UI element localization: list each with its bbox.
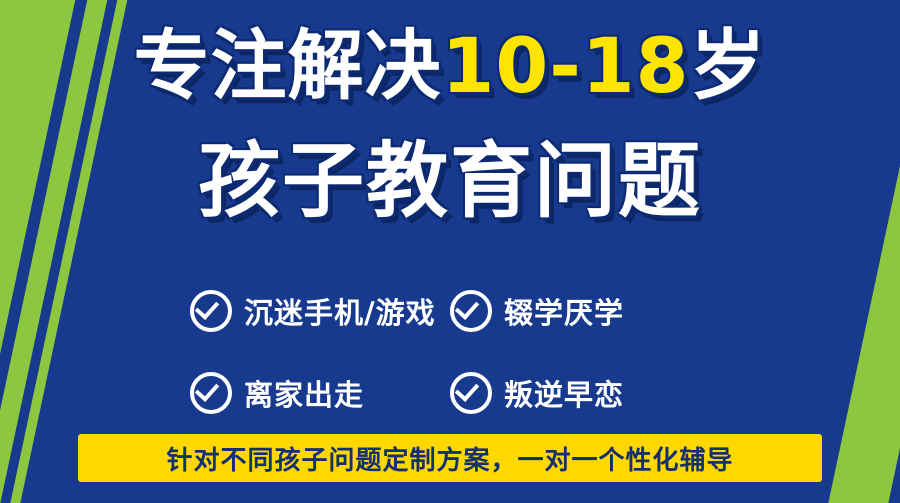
check-circle-icon — [450, 290, 492, 332]
feature-label: 沉迷手机/游戏 — [244, 290, 436, 332]
feature-item-1: 辍学厌学 — [450, 290, 690, 332]
headline-prefix: 专注解决 — [133, 21, 441, 110]
feature-item-0: 沉迷手机/游戏 — [190, 290, 450, 332]
feature-list: 沉迷手机/游戏 辍学厌学 离家出走 叛逆早恋 — [190, 270, 710, 434]
headline-line-1: 专注解决10-18岁 — [0, 22, 900, 110]
feature-row: 离家出走 叛逆早恋 — [190, 352, 710, 434]
headline-line-2: 孩子教育问题 — [0, 134, 900, 230]
promo-banner: 专注解决10-18岁 孩子教育问题 沉迷手机/游戏 辍学厌学 离家出走 — [0, 0, 900, 503]
feature-label: 离家出走 — [244, 372, 364, 414]
feature-item-3: 叛逆早恋 — [450, 372, 690, 414]
check-circle-icon — [190, 372, 232, 414]
check-circle-icon — [450, 372, 492, 414]
footer-highlight-bar: 针对不同孩子问题定制方案，一对一个性化辅导 — [78, 434, 822, 482]
feature-row: 沉迷手机/游戏 辍学厌学 — [190, 270, 710, 352]
footer-text: 针对不同孩子问题定制方案，一对一个性化辅导 — [166, 440, 733, 477]
feature-label: 叛逆早恋 — [504, 372, 624, 414]
headline-age-range: 10-18 — [441, 21, 689, 110]
check-circle-icon — [190, 290, 232, 332]
headline-suffix: 岁 — [690, 21, 767, 110]
banner-content: 专注解决10-18岁 孩子教育问题 沉迷手机/游戏 辍学厌学 离家出走 — [0, 0, 900, 503]
feature-item-2: 离家出走 — [190, 372, 450, 414]
feature-label: 辍学厌学 — [504, 290, 624, 332]
